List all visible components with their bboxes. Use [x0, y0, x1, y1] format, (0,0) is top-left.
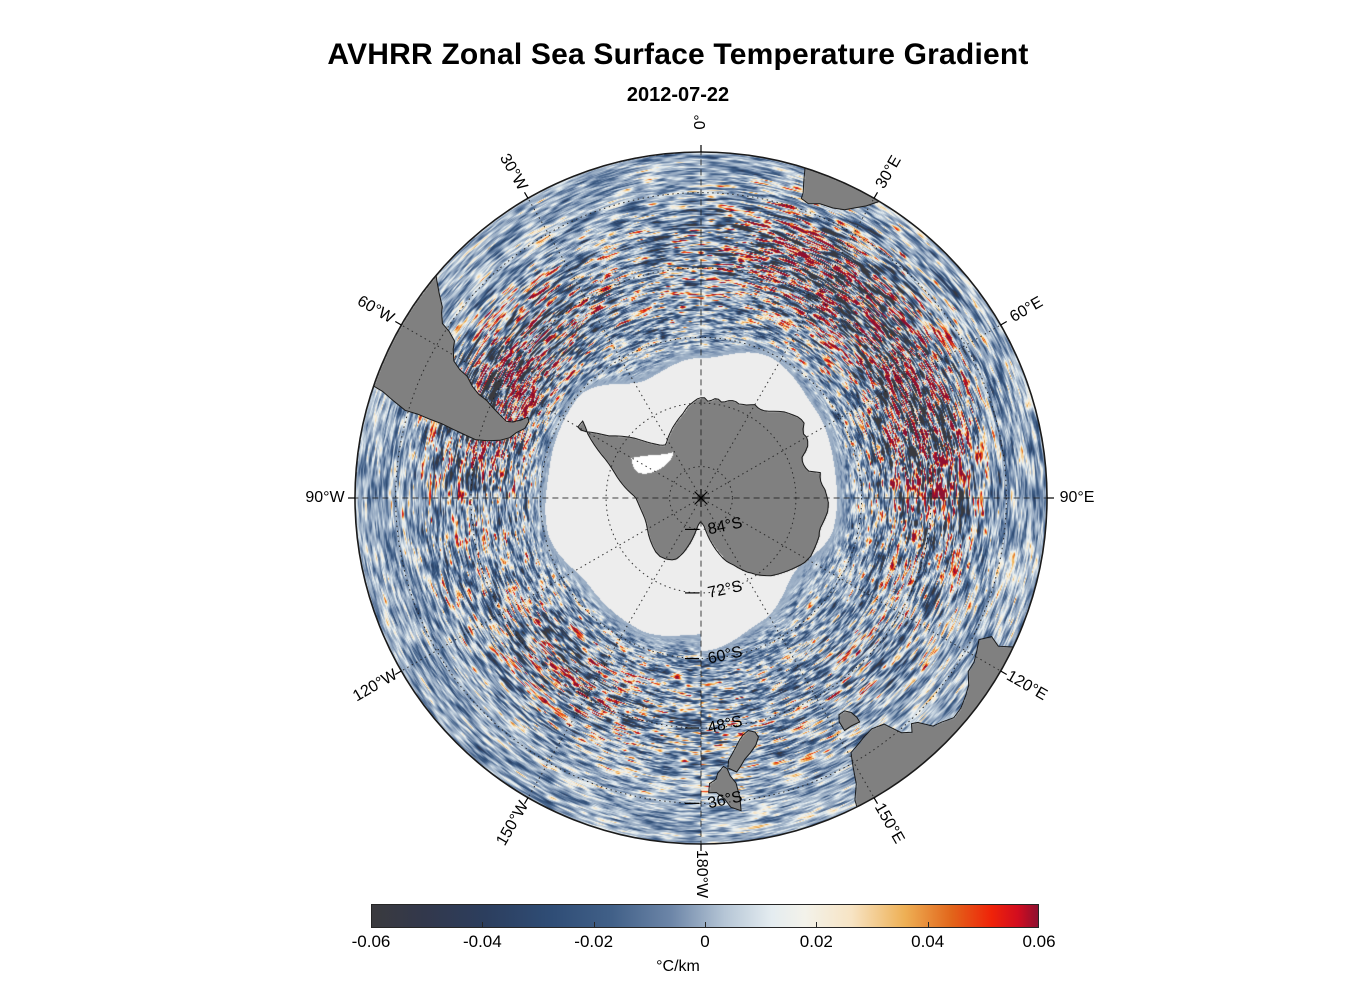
colorbar-tick — [816, 922, 817, 928]
polar-map: 0°30°E60°E90°E120°E150°E180°W150°W120°W9… — [0, 0, 1356, 900]
colorbar-tick — [594, 922, 595, 928]
longitude-label: 150°E — [871, 800, 908, 846]
colorbar-tick-label: -0.02 — [574, 932, 613, 952]
colorbar-tick-label: -0.06 — [352, 932, 391, 952]
colorbar-tick-label: 0 — [700, 932, 709, 952]
longitude-label: 120°E — [1004, 667, 1050, 704]
colorbar-tick-label: 0.06 — [1022, 932, 1055, 952]
longitude-label: 90°W — [305, 489, 345, 506]
colorbar-tick-label: 0.02 — [800, 932, 833, 952]
polar-map-svg: 0°30°E60°E90°E120°E150°E180°W150°W120°W9… — [0, 0, 1356, 900]
figure-canvas: AVHRR Zonal Sea Surface Temperature Grad… — [0, 0, 1356, 1000]
colorbar-tick — [705, 922, 706, 928]
colorbar-tick-label: 0.04 — [911, 932, 944, 952]
longitude-label: 60°E — [1007, 294, 1046, 326]
longitude-label: 180°W — [693, 850, 710, 899]
colorbar-tick-label: -0.04 — [463, 932, 502, 952]
longitude-label: 120°W — [350, 666, 401, 705]
colorbar-tick — [482, 922, 483, 928]
longitude-label: 60°W — [354, 293, 397, 328]
longitude-label: 150°W — [493, 798, 532, 849]
colorbar-units-label: °C/km — [0, 958, 1356, 976]
longitude-label: 30°E — [873, 153, 905, 192]
longitude-label: 90°E — [1060, 489, 1095, 506]
longitude-label: 30°W — [496, 151, 531, 194]
colorbar-tick — [928, 922, 929, 928]
longitude-label: 0° — [692, 114, 709, 129]
pole-marker — [692, 489, 710, 507]
sst-gradient-raster — [0, 0, 1356, 900]
